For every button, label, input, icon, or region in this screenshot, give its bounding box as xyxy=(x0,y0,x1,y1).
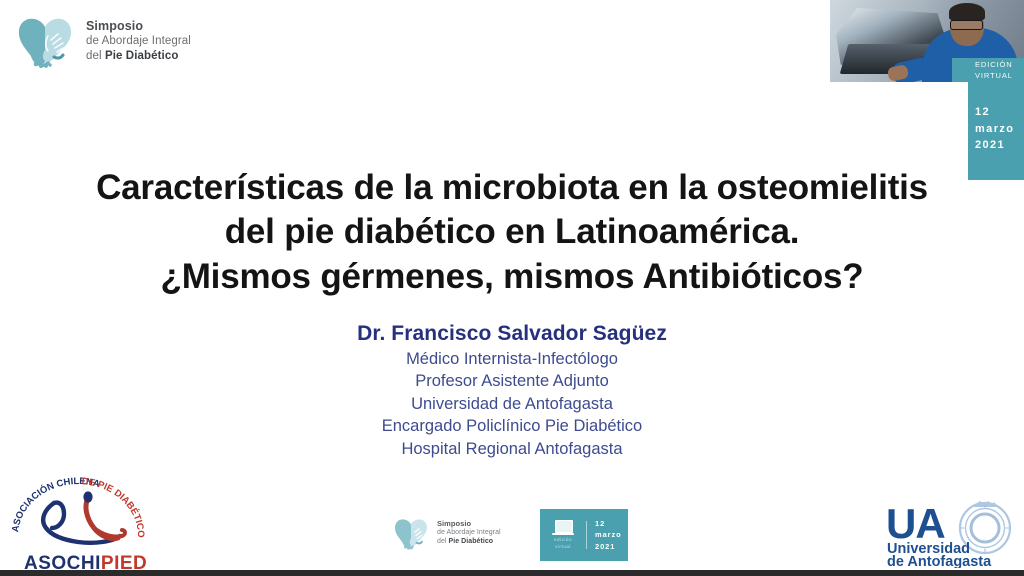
edition-panel-tab xyxy=(952,58,968,82)
ua-line2: de Antofagasta xyxy=(887,554,992,568)
badge-date: 12 marzo 2021 xyxy=(587,518,628,552)
affiliation-1: Médico Internista-Infectólogo xyxy=(212,348,812,370)
date-day: 12 xyxy=(975,104,1014,121)
footer-simposio-line3: del Pie Diabético xyxy=(437,538,501,547)
simposio-line2: de Abordaje Integral xyxy=(86,34,191,48)
svg-text:DE PIE DIABÉTICO: DE PIE DIABÉTICO xyxy=(81,476,146,538)
affiliation-4: Encargado Policlínico Pie Diabético xyxy=(212,415,812,437)
presentation-screen: Simposio de Abordaje Integral del Pie Di… xyxy=(0,0,1024,576)
ua-monogram: UA xyxy=(886,500,945,547)
author-block: Dr. Francisco Salvador Sagüez Médico Int… xyxy=(212,322,812,460)
edicion-virtual-label: EDICIÓN VIRTUAL xyxy=(975,60,1013,82)
badge-edicion-line1: edición xyxy=(554,537,572,543)
simposio-line3: del Pie Diabético xyxy=(86,49,191,63)
asochipied-ring-text-red: DE PIE DIABÉTICO xyxy=(81,476,146,538)
simposio-line1: Simposio xyxy=(86,19,191,35)
heart-foot-hand-icon xyxy=(14,10,76,72)
badge-date-day: 12 xyxy=(595,518,628,529)
title-line-1: Características de la microbiota en la o… xyxy=(62,166,962,210)
date-month: marzo xyxy=(975,121,1014,138)
simposio-header-logo: Simposio de Abordaje Integral del Pie Di… xyxy=(14,10,191,72)
laptop-icon xyxy=(552,520,574,535)
affiliation-3: Universidad de Antofagasta xyxy=(212,393,812,415)
affiliation-5: Hospital Regional Antofagasta xyxy=(212,438,812,460)
title-line-3: ¿Mismos gérmenes, mismos Antibióticos? xyxy=(62,255,962,299)
badge-edicion-line2: virtual xyxy=(554,544,572,550)
laptop-screen xyxy=(555,520,573,533)
edicion-line1: EDICIÓN xyxy=(975,60,1013,71)
author-name: Dr. Francisco Salvador Sagüez xyxy=(212,322,812,346)
slide-title: Características de la microbiota en la o… xyxy=(62,166,962,299)
edicion-virtual-panel: EDICIÓN VIRTUAL 12 marzo 2021 xyxy=(968,58,1024,180)
player-bottom-bar[interactable] xyxy=(0,570,1024,576)
badge-edicion-virtual-label: edición virtual xyxy=(554,537,572,549)
simposio-footer-logo: Simposio de Abordaje Integral del Pie Di… xyxy=(392,514,501,552)
presenter-hair xyxy=(949,3,985,21)
simposio-footer-text: Simposio de Abordaje Integral del Pie Di… xyxy=(437,519,501,547)
footer-simposio-line2: de Abordaje Integral xyxy=(437,529,501,538)
date-year: 2021 xyxy=(975,137,1014,154)
badge-left: edición virtual xyxy=(540,520,586,549)
heart-foot-hand-icon-small xyxy=(392,514,430,552)
badge-date-year: 2021 xyxy=(595,541,628,552)
title-line-2: del pie diabético en Latinoamérica. xyxy=(62,210,962,254)
laptop-base xyxy=(552,533,574,535)
glasses-icon xyxy=(950,20,983,30)
edicion-line2: VIRTUAL xyxy=(975,71,1013,82)
asochipied-logo: ASOCIACIÓN CHILENA DE PIE DIABÉTICO ASOC… xyxy=(2,470,154,574)
footer-simposio-line1: Simposio xyxy=(437,519,501,529)
universidad-antofagasta-logo: UA Universidad de Antofagasta xyxy=(884,500,1022,568)
event-date: 12 marzo 2021 xyxy=(975,104,1014,154)
simposio-header-text: Simposio de Abordaje Integral del Pie Di… xyxy=(86,19,191,63)
slide-surface: Simposio de Abordaje Integral del Pie Di… xyxy=(0,0,1024,570)
badge-date-month: marzo xyxy=(595,529,628,540)
affiliation-2: Profesor Asistente Adjunto xyxy=(212,370,812,392)
edicion-virtual-badge: edición virtual 12 marzo 2021 xyxy=(540,509,628,561)
